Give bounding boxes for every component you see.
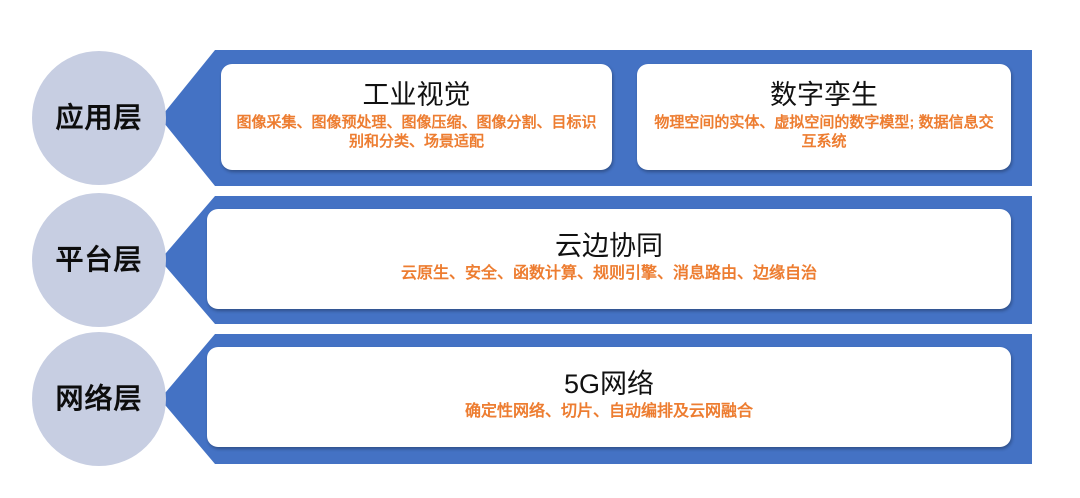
diagram-canvas: 应用层 工业视觉 图像采集、图像预处理、图像压缩、图像分割、目标识别和分类、场景… xyxy=(0,0,1080,498)
card-title: 数字孪生 xyxy=(770,80,878,110)
layer-row-application: 应用层 工业视觉 图像采集、图像预处理、图像压缩、图像分割、目标识别和分类、场景… xyxy=(0,50,1080,186)
card-description: 物理空间的实体、虚拟空间的数字模型; 数据信息交互系统 xyxy=(649,113,999,152)
layer-row-network: 网络层 5G网络 确定性网络、切片、自动编排及云网融合 xyxy=(0,334,1080,464)
card-description: 图像采集、图像预处理、图像压缩、图像分割、目标识别和分类、场景适配 xyxy=(233,113,601,152)
layer-row-platform: 平台层 云边协同 云原生、安全、函数计算、规则引擎、消息路由、边缘自治 xyxy=(0,196,1080,324)
card-5g-network[interactable]: 5G网络 确定性网络、切片、自动编排及云网融合 xyxy=(207,347,1011,447)
layer-circle-application[interactable]: 应用层 xyxy=(32,51,166,185)
layer-circle-label: 应用层 xyxy=(55,104,142,132)
card-description: 确定性网络、切片、自动编排及云网融合 xyxy=(465,402,753,423)
card-industrial-vision[interactable]: 工业视觉 图像采集、图像预处理、图像压缩、图像分割、目标识别和分类、场景适配 xyxy=(221,64,612,170)
card-digital-twin[interactable]: 数字孪生 物理空间的实体、虚拟空间的数字模型; 数据信息交互系统 xyxy=(637,64,1011,170)
card-description: 云原生、安全、函数计算、规则引擎、消息路由、边缘自治 xyxy=(401,264,817,285)
card-cloud-edge-collaboration[interactable]: 云边协同 云原生、安全、函数计算、规则引擎、消息路由、边缘自治 xyxy=(207,209,1011,309)
card-title: 工业视觉 xyxy=(363,80,471,110)
layer-circle-platform[interactable]: 平台层 xyxy=(32,193,166,327)
layer-circle-label: 平台层 xyxy=(55,246,142,274)
layer-circle-label: 网络层 xyxy=(55,385,142,413)
layer-circle-network[interactable]: 网络层 xyxy=(32,332,166,466)
card-title: 云边协同 xyxy=(555,231,663,261)
card-title: 5G网络 xyxy=(564,369,654,399)
